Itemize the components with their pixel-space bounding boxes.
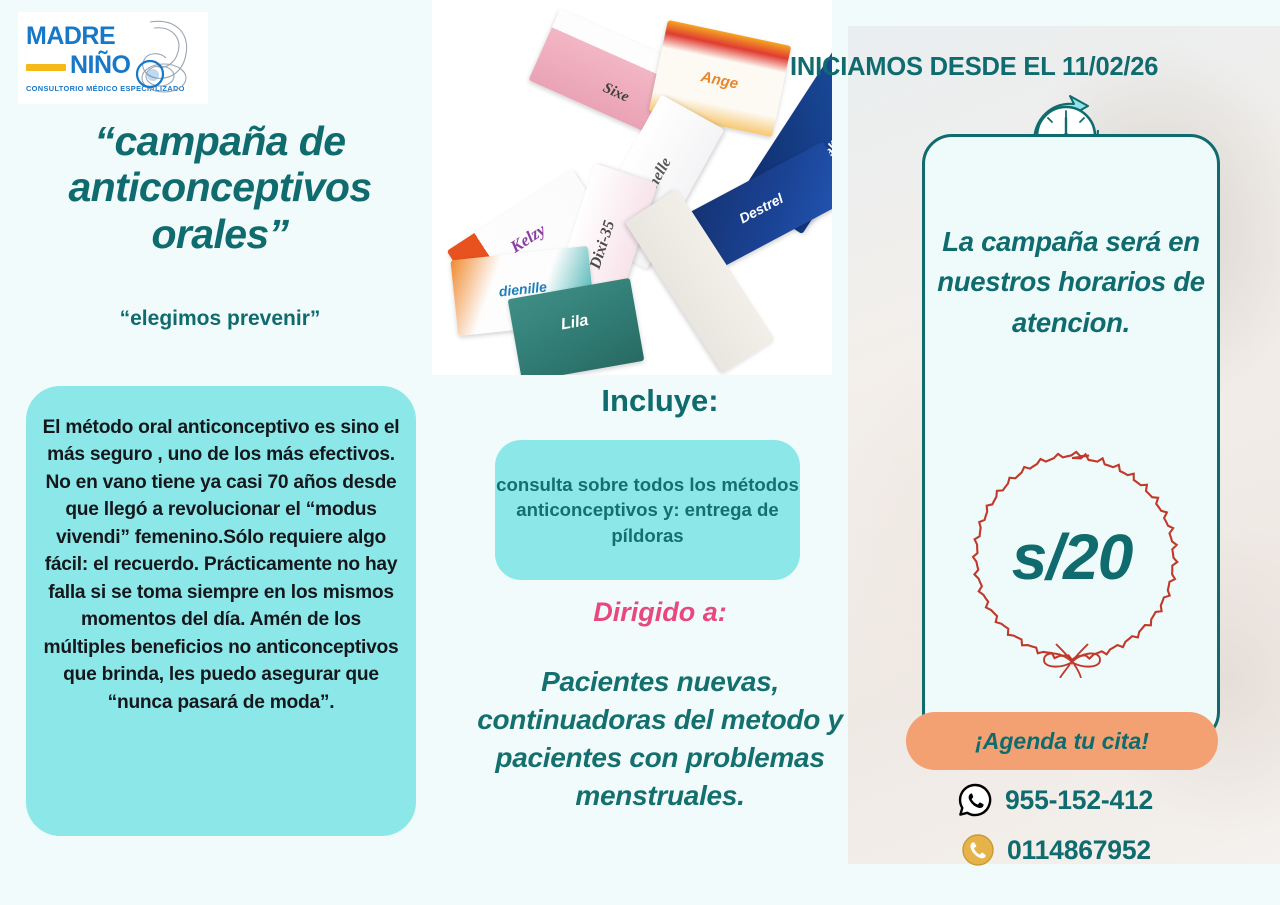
logo-yellow-dash [26,64,66,71]
schedule-body: La campaña será en nuestros horarios de … [925,222,1217,343]
page-subtitle: “elegimos prevenir” [10,307,430,331]
audience-heading: Dirigido a: [460,597,860,628]
start-date-banner: INICIAMOS DESDE EL 11/02/26 [790,53,1280,82]
contact-row-whatsapp[interactable]: 955-152-412 [958,783,1153,817]
product-photo: Kelzy Sixe Ange Malte Femelle Destrel Di… [432,0,832,375]
includes-heading: Incluye: [460,383,860,419]
includes-body: consulta sobre todos los métodos anticon… [495,472,800,549]
info-card-body: El método oral anticonceptivo es sino el… [42,414,400,716]
page-title: “campaña de anticonceptivos orales” [10,118,430,257]
clinic-logo: MADRE NIÑO CONSULTORIO MÉDICO ESPECIALIZ… [18,12,208,104]
info-card: El método oral anticonceptivo es sino el… [26,386,416,836]
poster-canvas: MADRE NIÑO CONSULTORIO MÉDICO ESPECIALIZ… [0,0,1280,905]
whatsapp-icon[interactable] [958,783,992,817]
phone-icon[interactable] [962,834,994,866]
schedule-appointment-button[interactable]: ¡Agenda tu cita! [906,712,1218,770]
price-value: s/20 [952,520,1192,594]
mother-child-logo-icon [120,16,198,100]
audience-body: Pacientes nuevas, continuadoras del meto… [455,663,865,815]
contact-row-phone[interactable]: 0114867952 [962,834,1151,866]
includes-card: consulta sobre todos los métodos anticon… [495,440,800,580]
price-seal: s/20 [952,448,1192,678]
logo-text-madre: MADRE [26,24,115,49]
phone-number[interactable]: 0114867952 [1007,835,1151,866]
whatsapp-number[interactable]: 955-152-412 [1005,785,1153,816]
